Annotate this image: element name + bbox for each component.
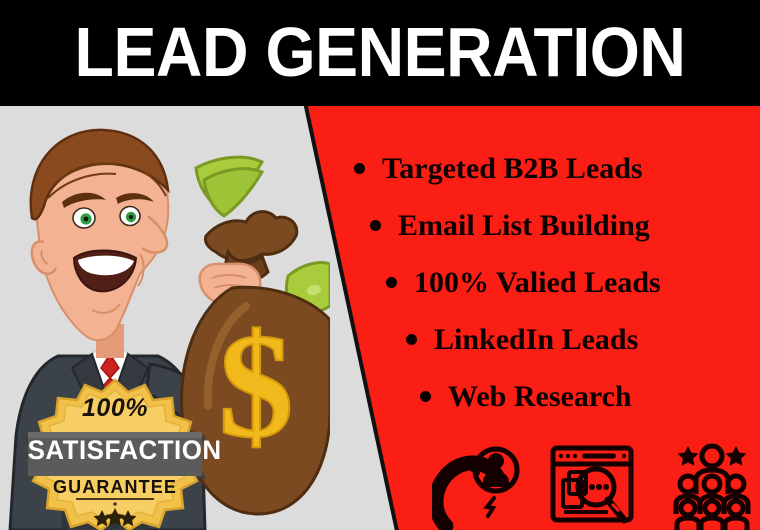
web-research-icon	[548, 442, 636, 530]
lead-magnet-icon	[432, 440, 522, 530]
list-item-label: Targeted B2B Leads	[382, 152, 643, 186]
list-item-label: LinkedIn Leads	[434, 323, 638, 357]
badge-ribbon	[24, 430, 206, 480]
list-item-label: Web Research	[448, 380, 632, 414]
page-title: LEAD GENERATION	[75, 17, 686, 87]
satisfaction-guarantee-badge: 100% SATISFACTION GUARANTEE	[24, 378, 206, 530]
list-item: 100% Valied Leads	[330, 254, 760, 311]
list-item: Web Research	[330, 368, 760, 425]
list-item-label: 100% Valied Leads	[414, 266, 661, 300]
header-bar: LEAD GENERATION	[0, 0, 760, 106]
banknote-icon	[196, 157, 262, 216]
bullet-dot-icon	[370, 220, 381, 231]
svg-text:$: $	[219, 303, 294, 469]
list-item-label: Email List Building	[398, 209, 650, 243]
audience-icon	[668, 442, 756, 530]
dollar-sign: $	[219, 303, 294, 469]
list-item: Targeted B2B Leads	[330, 140, 760, 197]
head	[31, 130, 169, 358]
bullet-dot-icon	[354, 163, 365, 174]
bullet-dot-icon	[420, 391, 431, 402]
list-item: Email List Building	[330, 197, 760, 254]
bullet-dot-icon	[406, 334, 417, 345]
lead-generation-poster: $ Targeted B2B Leads Email List Building…	[0, 0, 760, 530]
list-item: LinkedIn Leads	[330, 311, 760, 368]
services-bullet-list: Targeted B2B Leads Email List Building 1…	[330, 140, 760, 425]
bullet-dot-icon	[386, 277, 397, 288]
